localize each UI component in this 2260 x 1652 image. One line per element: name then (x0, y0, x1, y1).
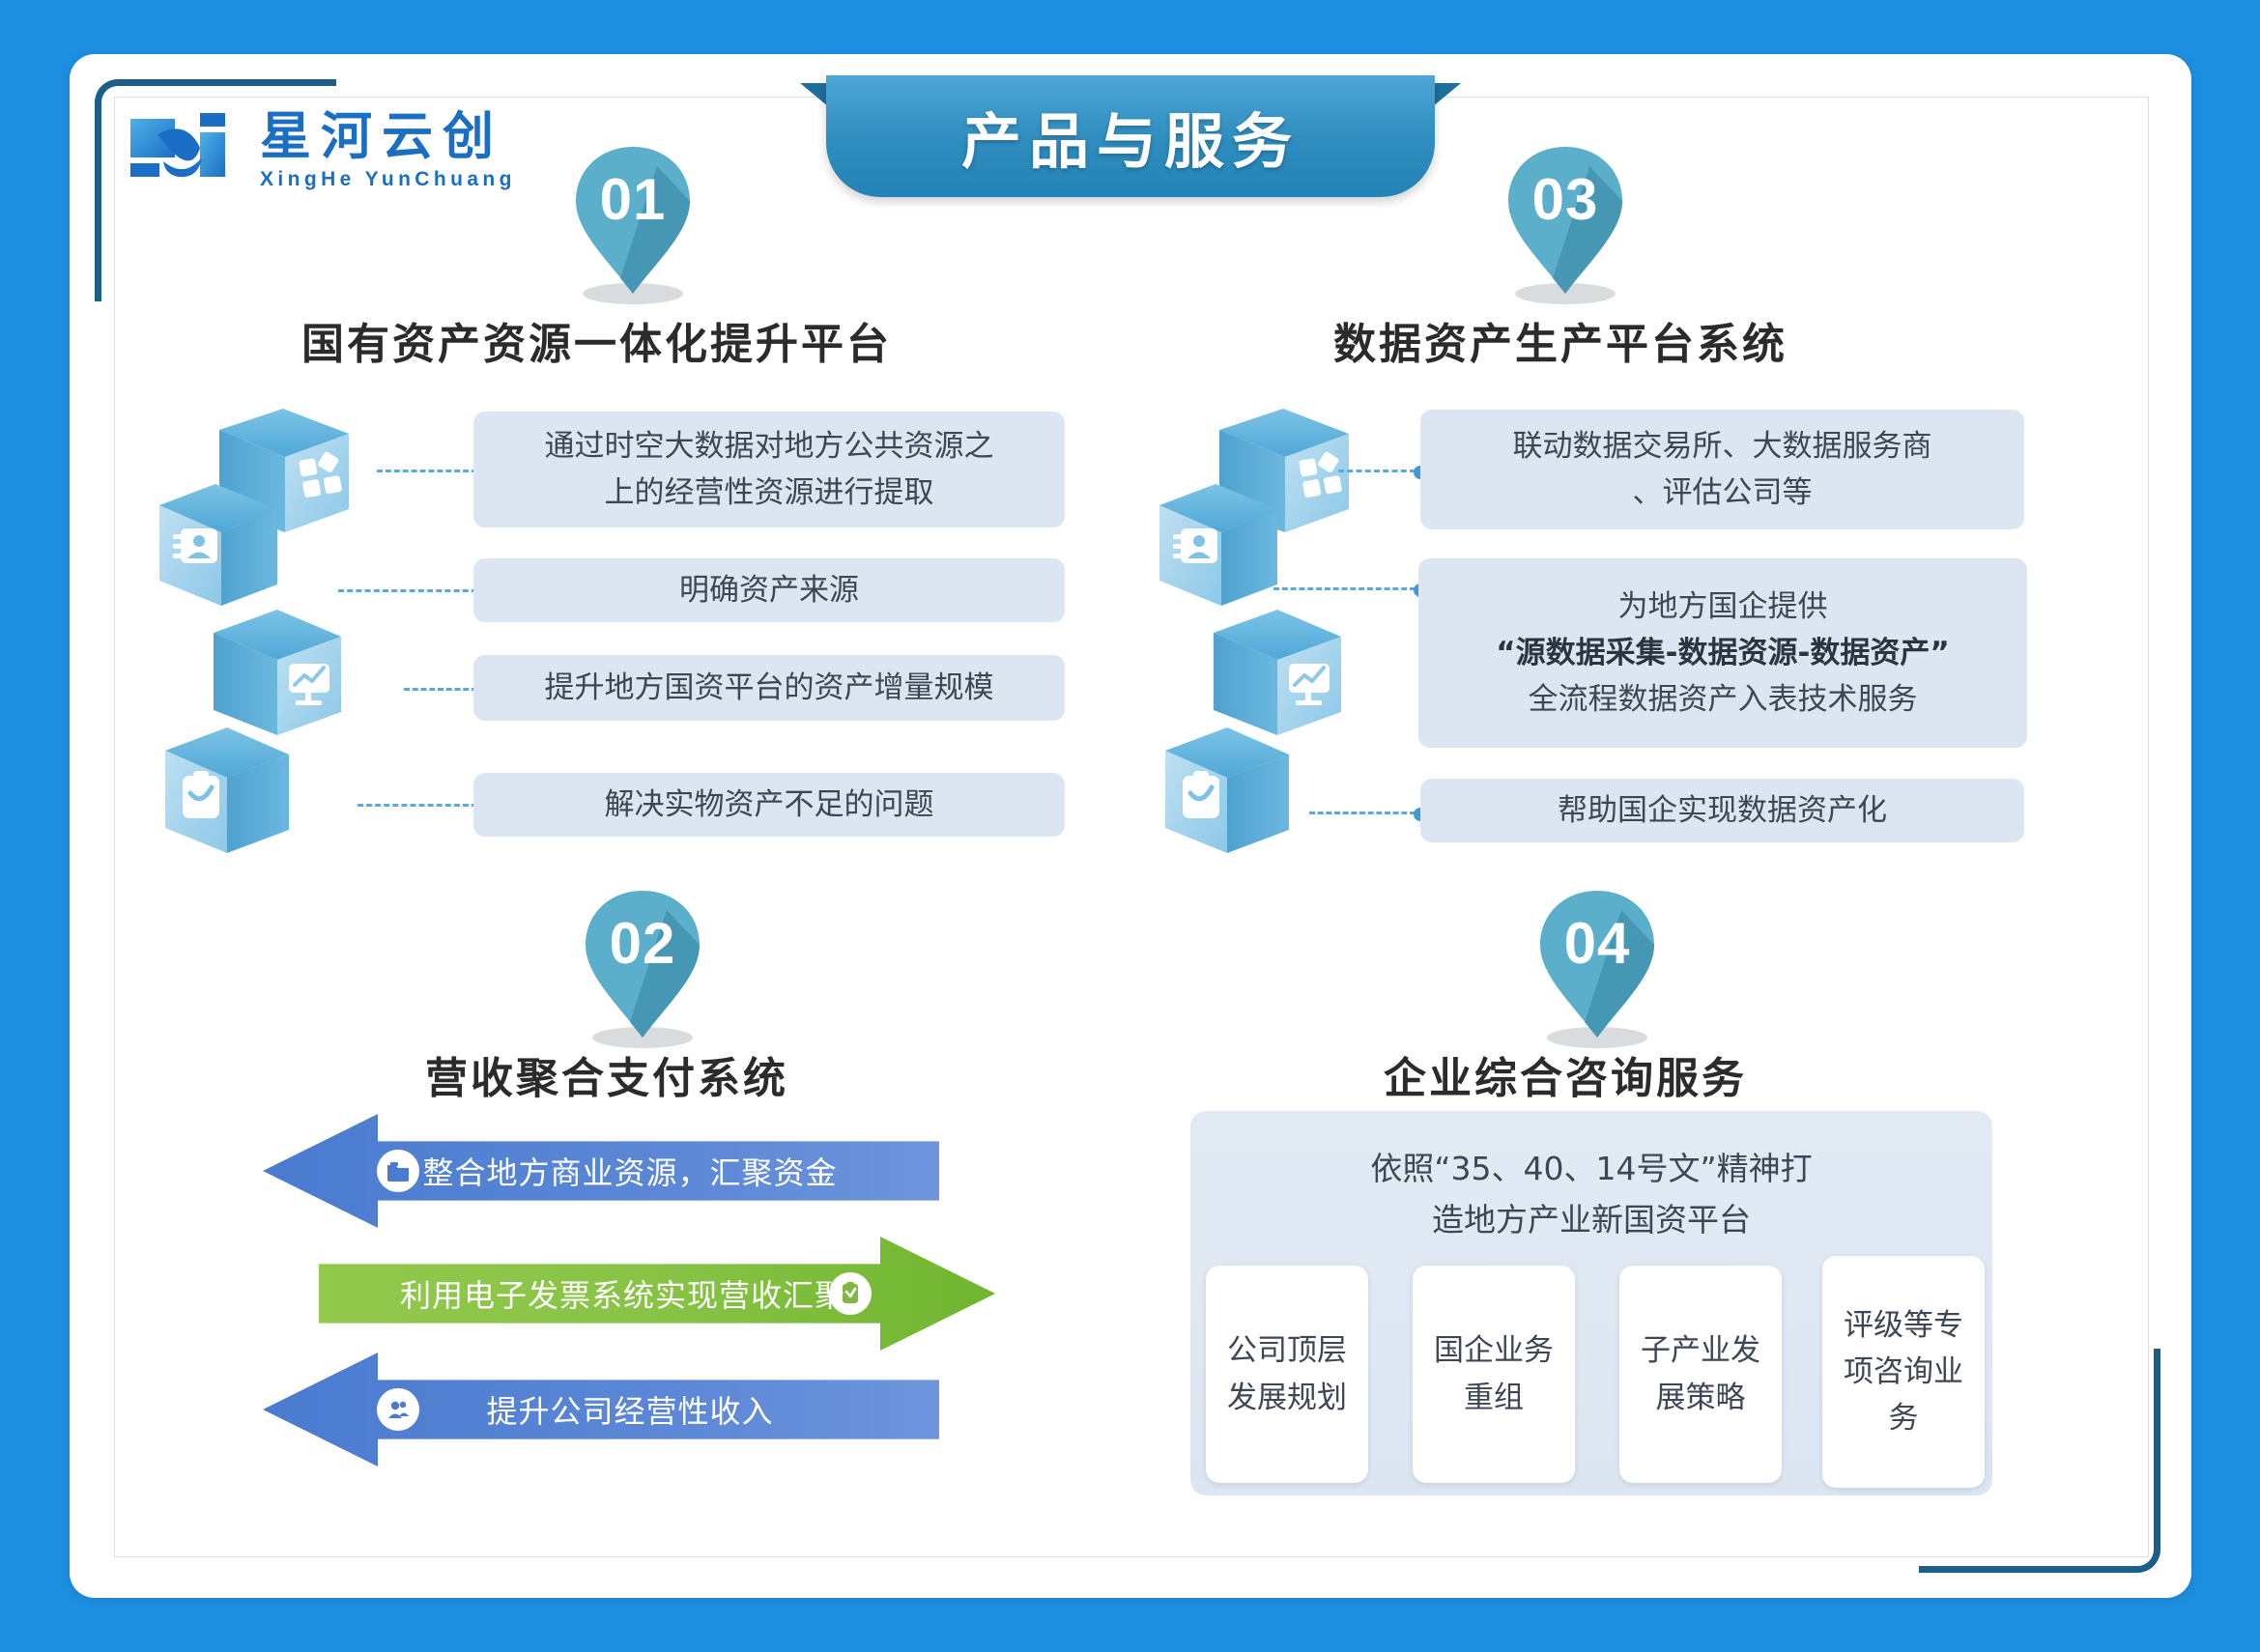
brand-name-cn: 星河云创 (260, 111, 516, 162)
slide-canvas: 星河云创 XingHe YunChuang 产品与服务 01 国有资产资源一体化… (0, 0, 2260, 1652)
info-box-03-2: 为地方国企提供 “源数据采集-数据资源-数据资产” 全流程数据资产入表技术服务 (1418, 558, 2027, 748)
info-box-03-3: 帮助国企实现数据资产化 (1420, 779, 2024, 842)
arrow-label-3: 提升公司经营性收入 (263, 1387, 939, 1432)
section-04-title: 企业综合咨询服务 (1384, 1043, 1747, 1105)
consulting-card-2[interactable]: 国企业务 重组 (1413, 1266, 1575, 1483)
cube-chart-monitor-icon (1214, 610, 1341, 735)
info-box-01-4: 解决实物资产不足的问题 (473, 773, 1065, 837)
section-02-title: 营收聚合支付系统 (425, 1043, 788, 1105)
info-line: 解决实物资产不足的问题 (605, 782, 934, 828)
section-04-pin: 04 (1534, 887, 1660, 1051)
card-line: 国企业务 (1434, 1327, 1554, 1374)
section-01-number: 01 (570, 166, 696, 233)
brand-name-en: XingHe YunChuang (260, 169, 516, 189)
info-box-01-1: 通过时空大数据对地方公共资源之 上的经营性资源进行提取 (473, 412, 1065, 527)
card-line: 务 (1844, 1395, 1963, 1441)
connector-01-2 (338, 589, 477, 592)
section-01-title: 国有资产资源一体化提升平台 (301, 309, 892, 371)
cube-checklist-icon (165, 727, 289, 853)
card-line: 重组 (1434, 1375, 1554, 1421)
arrow-banner-3[interactable]: 提升公司经营性收入 (263, 1353, 939, 1467)
card-line: 展策略 (1641, 1375, 1760, 1421)
card-line: 子产业发 (1641, 1327, 1760, 1374)
info-box-01-3: 提升地方国资平台的资产增量规模 (473, 655, 1065, 721)
info-line-bold: “源数据采集-数据资源-数据资产” (1496, 630, 1949, 676)
connector-01-4 (358, 804, 477, 807)
section-04-number: 04 (1534, 910, 1660, 977)
section-01-cube-stack (159, 401, 382, 884)
card-line: 项咨询业 (1844, 1349, 1963, 1395)
connector-03-3 (1309, 812, 1416, 814)
cube-contact-card-icon (1159, 484, 1277, 606)
page-title: 产品与服务 (961, 93, 1300, 180)
consulting-card-4[interactable]: 评级等专 项咨询业 务 (1822, 1256, 1985, 1488)
info-line: 通过时空大数据对地方公共资源之 (545, 423, 994, 470)
info-box-01-2: 明确资产来源 (473, 558, 1065, 622)
cube-chart-monitor-icon (214, 610, 341, 735)
page-title-banner: 产品与服务 (826, 75, 1435, 197)
cube-checklist-icon (1165, 727, 1289, 853)
panel-line: 依照“35、40、14号文”精神打 (1190, 1144, 1992, 1195)
section-04-panel-text: 依照“35、40、14号文”精神打 造地方产业新国资平台 (1190, 1144, 1992, 1246)
info-line: 全流程数据资产入表技术服务 (1529, 676, 1918, 723)
section-01-pin: 01 (570, 143, 696, 307)
info-line: 、评估公司等 (1633, 470, 1813, 516)
info-line: 上的经营性资源进行提取 (605, 470, 934, 516)
arrow-label-1: 整合地方商业资源，汇聚资金 (263, 1149, 939, 1193)
card-line: 发展规划 (1227, 1375, 1347, 1421)
info-line: 为地方国企提供 (1618, 584, 1828, 630)
logo-mark-icon (130, 113, 244, 188)
section-02-number: 02 (580, 910, 705, 977)
info-line: 明确资产来源 (679, 567, 859, 613)
info-line: 提升地方国资平台的资产增量规模 (545, 665, 994, 711)
section-03-number: 03 (1502, 166, 1628, 233)
info-box-03-1: 联动数据交易所、大数据服务商 、评估公司等 (1420, 410, 2024, 529)
connector-03-2 (1273, 587, 1416, 590)
arrow-banner-1[interactable]: 整合地方商业资源，汇聚资金 (263, 1114, 939, 1228)
arrow-banner-2[interactable]: 利用电子发票系统实现营收汇聚 (319, 1237, 995, 1351)
card-line: 公司顶层 (1227, 1327, 1347, 1374)
connector-01-3 (404, 688, 477, 691)
panel-line: 造地方产业新国资平台 (1190, 1195, 1992, 1246)
brand-logo: 星河云创 XingHe YunChuang (130, 111, 516, 189)
connector-01-1 (377, 470, 477, 472)
cube-contact-card-icon (159, 484, 277, 606)
arrow-label-2: 利用电子发票系统实现营收汇聚 (319, 1271, 995, 1316)
section-03-title: 数据资产生产平台系统 (1333, 309, 1788, 371)
section-03-pin: 03 (1502, 143, 1628, 307)
info-line: 帮助国企实现数据资产化 (1558, 787, 1887, 834)
connector-03-1 (1338, 470, 1416, 472)
consulting-card-1[interactable]: 公司顶层 发展规划 (1206, 1266, 1368, 1483)
card-line: 评级等专 (1844, 1302, 1963, 1349)
section-02-pin: 02 (580, 887, 705, 1051)
info-line: 联动数据交易所、大数据服务商 (1513, 423, 1932, 470)
consulting-card-3[interactable]: 子产业发 展策略 (1619, 1266, 1782, 1483)
